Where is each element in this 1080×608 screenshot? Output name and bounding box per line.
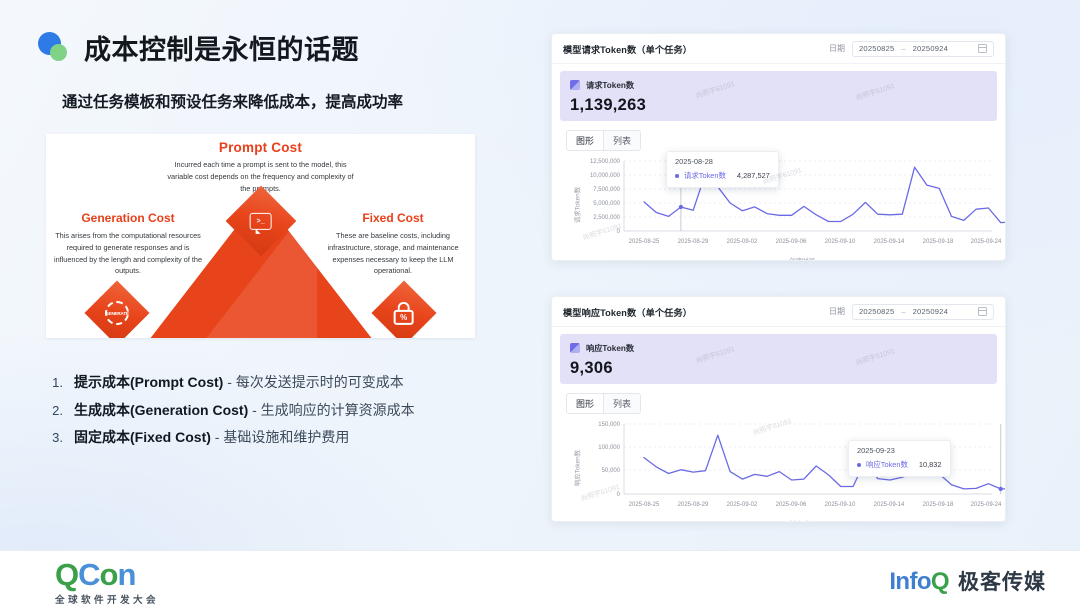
- svg-text:2025-09-24: 2025-09-24: [971, 502, 1002, 508]
- list-item-rest: - 基础设施和维护费用: [211, 429, 349, 445]
- panel-title: 模型请求Token数（单个任务）: [563, 42, 692, 56]
- slide-subtitle: 通过任务模板和预设任务来降低成本，提高成功率: [62, 90, 403, 112]
- qcon-wordmark: QCon: [55, 559, 159, 590]
- infoq-chinese-name: 极客传媒: [958, 566, 1046, 596]
- dots-logo-icon: [38, 32, 70, 64]
- response-token-chart[interactable]: 150,000 100,000 50,000 0 2025-08-25 2025…: [552, 416, 1005, 520]
- chart-view-tabs[interactable]: 图形 列表: [566, 130, 1005, 151]
- x-tick-labels: 2025-08-25 2025-08-29 2025-09-02 2025-09…: [629, 239, 1002, 245]
- svg-text:2,500,000: 2,500,000: [593, 215, 620, 221]
- stat-label: 请求Token数: [586, 79, 634, 91]
- qcon-letter-q: Q: [55, 557, 78, 592]
- svg-text:100,000: 100,000: [598, 445, 620, 451]
- x-tick-labels: 2025-08-25 2025-08-29 2025-09-02 2025-09…: [629, 502, 1002, 508]
- panel-header-controls: 日期 20250825 – 20250924: [829, 41, 994, 57]
- list-item-bold: 固定成本(Fixed Cost): [74, 429, 211, 445]
- date-start-value[interactable]: 20250825: [859, 44, 894, 53]
- qcon-subtitle: 全球软件开发大会: [55, 592, 159, 606]
- svg-text:10,000,000: 10,000,000: [590, 173, 621, 179]
- tooltip-series-row: 请求Token数 4,287,527: [675, 170, 770, 181]
- svg-text:2025-09-14: 2025-09-14: [874, 502, 905, 508]
- highlighted-data-point: [999, 487, 1003, 491]
- date-range-separator: –: [901, 44, 905, 53]
- terminal-icon: >_: [250, 213, 272, 230]
- request-token-chart[interactable]: 12,500,000 10,000,000 7,500,000 5,000,00…: [552, 153, 1005, 257]
- panel-header: 模型响应Token数（单个任务） 日期 20250825 – 20250924: [552, 297, 1005, 327]
- panel-header: 模型请求Token数（单个任务） 日期 20250825 – 20250924: [552, 34, 1005, 64]
- date-range-picker[interactable]: 20250825 – 20250924: [852, 41, 994, 57]
- tooltip-dot-icon: [857, 463, 861, 467]
- list-item-number: 1.: [44, 375, 74, 390]
- svg-text:2025-09-18: 2025-09-18: [923, 502, 954, 508]
- tooltip-dot-icon: [675, 174, 679, 178]
- page-title: 成本控制是永恒的话题: [84, 28, 359, 67]
- svg-text:2025-09-24: 2025-09-24: [971, 239, 1002, 245]
- date-range-label: 日期: [829, 43, 845, 54]
- stat-value: 1,139,263: [570, 96, 987, 115]
- qcon-letter-n: n: [117, 557, 135, 592]
- svg-text:2025-08-25: 2025-08-25: [629, 502, 660, 508]
- list-item-text: 提示成本(Prompt Cost) - 每次发送提示时的可变成本: [74, 372, 404, 392]
- date-start-value[interactable]: 20250825: [859, 307, 894, 316]
- cost-type-list: 1. 提示成本(Prompt Cost) - 每次发送提示时的可变成本 2. 生…: [44, 372, 514, 455]
- series-swatch-icon: [570, 80, 580, 90]
- svg-text:2025-09-14: 2025-09-14: [874, 239, 905, 245]
- x-axis-title: 创建时间: [789, 519, 815, 522]
- svg-text:2025-09-02: 2025-09-02: [727, 239, 758, 245]
- date-range-separator: –: [901, 307, 905, 316]
- list-item: 3. 固定成本(Fixed Cost) - 基础设施和维护费用: [44, 427, 514, 447]
- list-item-text: 生成成本(Generation Cost) - 生成响应的计算资源成本: [74, 400, 415, 420]
- list-item-text: 固定成本(Fixed Cost) - 基础设施和维护费用: [74, 427, 349, 447]
- chart-tooltip: 2025-09-23 响应Token数 10,832: [848, 440, 951, 477]
- x-axis-title: 创建时间: [789, 256, 815, 261]
- slide-footer: QCon 全球软件开发大会 InfoQ 极客传媒: [0, 550, 1080, 608]
- left-content-column: 成本控制是永恒的话题 通过任务模板和预设任务来降低成本，提高成功率 Prompt…: [0, 0, 525, 545]
- cost-infographic: Prompt Cost Incurred each time a prompt …: [46, 134, 475, 338]
- y-tick-labels: 12,500,000 10,000,000 7,500,000 5,000,00…: [590, 159, 621, 235]
- generate-diamond-badge: GENERATE: [84, 280, 149, 338]
- list-item: 1. 提示成本(Prompt Cost) - 每次发送提示时的可变成本: [44, 372, 514, 392]
- infoq-logo: InfoQ 极客传媒: [889, 566, 1046, 596]
- tooltip-series-row: 响应Token数 10,832: [857, 459, 942, 470]
- svg-text:2025-08-29: 2025-08-29: [678, 502, 709, 508]
- svg-text:7,500,000: 7,500,000: [593, 187, 620, 193]
- tab-list[interactable]: 列表: [604, 130, 641, 151]
- svg-text:2025-09-06: 2025-09-06: [776, 502, 807, 508]
- tooltip-value: 10,832: [919, 460, 942, 469]
- panel-title: 模型响应Token数（单个任务）: [563, 305, 692, 319]
- svg-text:5,000,000: 5,000,000: [593, 201, 620, 207]
- lock-diamond-badge: %: [371, 280, 436, 338]
- stat-value: 9,306: [570, 359, 987, 378]
- highlighted-data-point: [679, 205, 683, 209]
- prompt-cost-title: Prompt Cost: [46, 140, 475, 155]
- date-range-label: 日期: [829, 306, 845, 317]
- infoq-info-text: Info: [889, 568, 931, 595]
- request-token-line-chart-svg[interactable]: 12,500,000 10,000,000 7,500,000 5,000,00…: [552, 153, 1006, 257]
- svg-text:2025-08-29: 2025-08-29: [678, 239, 709, 245]
- list-item-bold: 生成成本(Generation Cost): [74, 402, 248, 418]
- tooltip-series-name: 请求Token数: [684, 170, 726, 181]
- series-swatch-icon: [570, 343, 580, 353]
- panel-header-controls: 日期 20250825 – 20250924: [829, 304, 994, 320]
- request-token-stat-band: 请求Token数 1,139,263 尚照宇61091 尚照宇61091: [560, 71, 997, 121]
- list-item-number: 3.: [44, 430, 74, 445]
- svg-text:2025-08-25: 2025-08-25: [629, 239, 660, 245]
- response-token-panel: 模型响应Token数（单个任务） 日期 20250825 – 20250924 …: [551, 296, 1006, 522]
- tooltip-series-name: 响应Token数: [866, 459, 908, 470]
- chart-tooltip: 2025-08-28 请求Token数 4,287,527: [666, 151, 779, 188]
- tooltip-value: 4,287,527: [737, 171, 770, 180]
- tooltip-date: 2025-09-23: [857, 446, 942, 455]
- calendar-icon[interactable]: [978, 307, 987, 316]
- list-item-rest: - 生成响应的计算资源成本: [248, 402, 414, 418]
- list-item-bold: 提示成本(Prompt Cost): [74, 374, 223, 390]
- svg-text:0: 0: [617, 492, 621, 498]
- chart-view-tabs[interactable]: 图形 列表: [566, 393, 1005, 414]
- y-tick-labels: 150,000 100,000 50,000 0: [598, 422, 620, 498]
- infoq-q-letter: Q: [931, 568, 949, 595]
- green-dot-icon: [50, 44, 67, 61]
- svg-text:12,500,000: 12,500,000: [590, 159, 621, 165]
- svg-text:0: 0: [617, 229, 621, 235]
- svg-text:2025-09-10: 2025-09-10: [825, 239, 856, 245]
- tooltip-date: 2025-08-28: [675, 157, 770, 166]
- y-axis-title: 响应Token数: [573, 450, 582, 486]
- svg-text:2025-09-10: 2025-09-10: [825, 502, 856, 508]
- list-item-number: 2.: [44, 403, 74, 418]
- series-line-response-token: [644, 435, 1006, 489]
- svg-text:2025-09-18: 2025-09-18: [923, 239, 954, 245]
- date-end-value[interactable]: 20250924: [913, 307, 948, 316]
- qcon-logo: QCon 全球软件开发大会: [55, 559, 159, 606]
- lock-percent-icon: %: [394, 302, 414, 325]
- svg-text:2025-09-06: 2025-09-06: [776, 239, 807, 245]
- svg-text:2025-09-02: 2025-09-02: [727, 502, 758, 508]
- stat-header: 请求Token数: [570, 79, 987, 91]
- date-range-picker[interactable]: 20250825 – 20250924: [852, 304, 994, 320]
- response-token-stat-band: 响应Token数 9,306 尚照宇61091 尚照宇61091: [560, 334, 997, 384]
- svg-text:50,000: 50,000: [602, 468, 621, 474]
- infoq-wordmark: InfoQ: [889, 570, 949, 594]
- tab-list[interactable]: 列表: [604, 393, 641, 414]
- calendar-icon[interactable]: [978, 44, 987, 53]
- generate-cycle-icon: GENERATE: [105, 301, 129, 325]
- list-item-rest: - 每次发送提示时的可变成本: [223, 374, 403, 390]
- date-end-value[interactable]: 20250924: [913, 44, 948, 53]
- qcon-letter-o: o: [100, 557, 118, 592]
- list-item: 2. 生成成本(Generation Cost) - 生成响应的计算资源成本: [44, 400, 514, 420]
- tab-graph[interactable]: 图形: [566, 130, 604, 151]
- qcon-letter-c: C: [78, 557, 99, 592]
- y-axis-title: 请求Token数: [573, 187, 582, 223]
- slide-title-row: 成本控制是永恒的话题: [38, 28, 359, 67]
- tab-graph[interactable]: 图形: [566, 393, 604, 414]
- svg-text:150,000: 150,000: [598, 422, 620, 428]
- stat-label: 响应Token数: [586, 342, 634, 354]
- stat-header: 响应Token数: [570, 342, 987, 354]
- request-token-panel: 模型请求Token数（单个任务） 日期 20250825 – 20250924 …: [551, 33, 1006, 261]
